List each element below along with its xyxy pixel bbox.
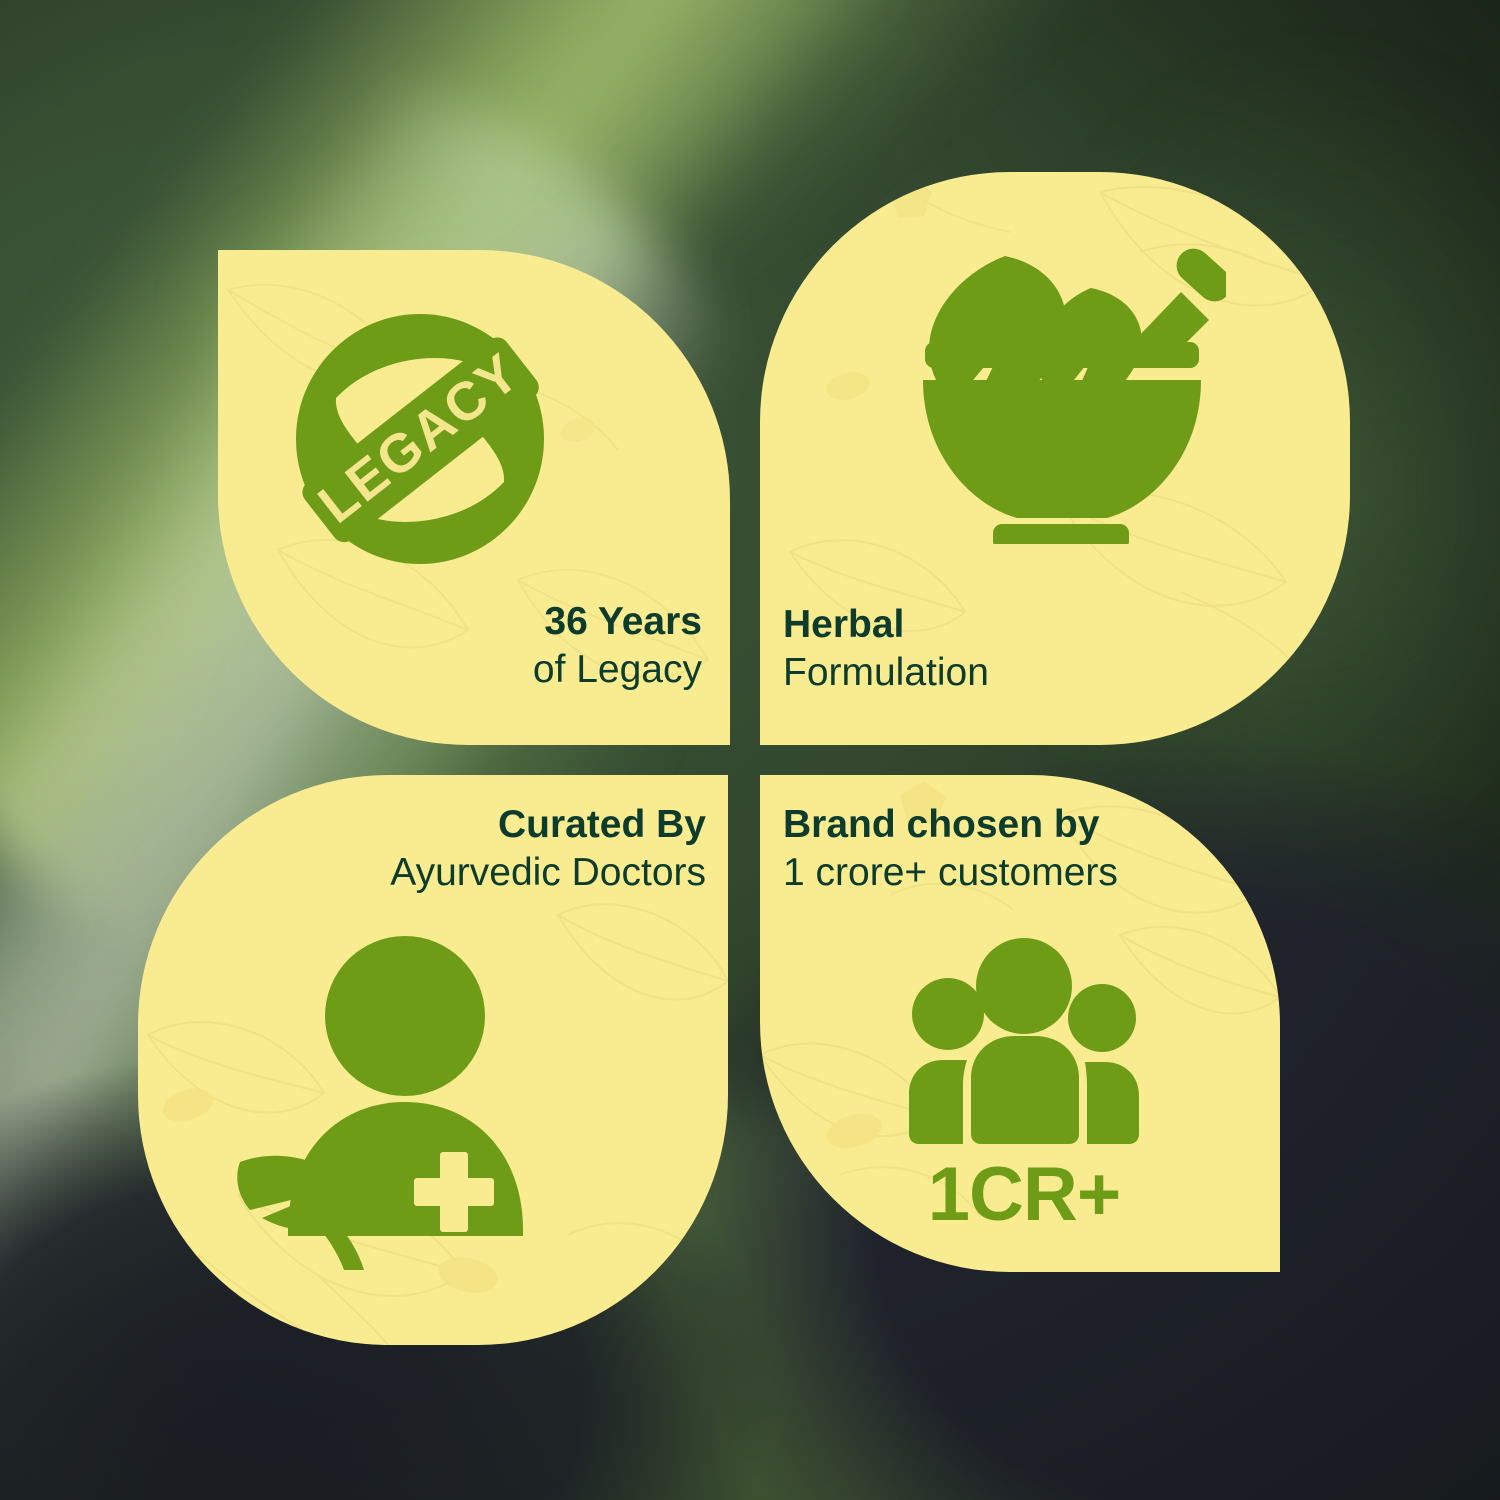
petal-legacy: LEGACY 36 Years of Legacy	[218, 250, 730, 745]
petal-customers: Brand chosen by 1 crore+ customers 1CR+	[760, 775, 1280, 1272]
petal-customers-line1: Brand chosen by	[783, 803, 1118, 847]
petal-herbal-line2: Formulation	[783, 651, 989, 695]
promo-graphic: LEGACY 36 Years of Legacy	[0, 0, 1500, 1500]
petal-herbal-caption: Herbal Formulation	[783, 603, 989, 696]
doctor-with-leaf-icon	[228, 930, 573, 1270]
people-group-icon	[905, 938, 1143, 1150]
legacy-badge-icon: LEGACY	[280, 298, 560, 580]
petal-curated-line1: Curated By	[390, 803, 706, 847]
mortar-and-pestle-icon	[893, 234, 1226, 544]
petal-customers-caption: Brand chosen by 1 crore+ customers	[783, 803, 1118, 896]
petal-curated-line2: Ayurvedic Doctors	[390, 851, 706, 895]
petal-herbal: Herbal Formulation	[760, 172, 1350, 745]
petal-legacy-caption: 36 Years of Legacy	[533, 600, 702, 693]
petal-customers-line2: 1 crore+ customers	[783, 851, 1118, 895]
four-petal-layout: LEGACY 36 Years of Legacy	[0, 0, 1500, 1500]
petal-herbal-line1: Herbal	[783, 603, 989, 647]
petal-curated: Curated By Ayurvedic Doctors	[138, 775, 728, 1345]
petal-legacy-line1: 36 Years	[533, 600, 702, 644]
petal-curated-caption: Curated By Ayurvedic Doctors	[390, 803, 706, 896]
petal-legacy-line2: of Legacy	[533, 648, 702, 692]
customer-count-badge: 1CR+	[905, 1153, 1143, 1237]
